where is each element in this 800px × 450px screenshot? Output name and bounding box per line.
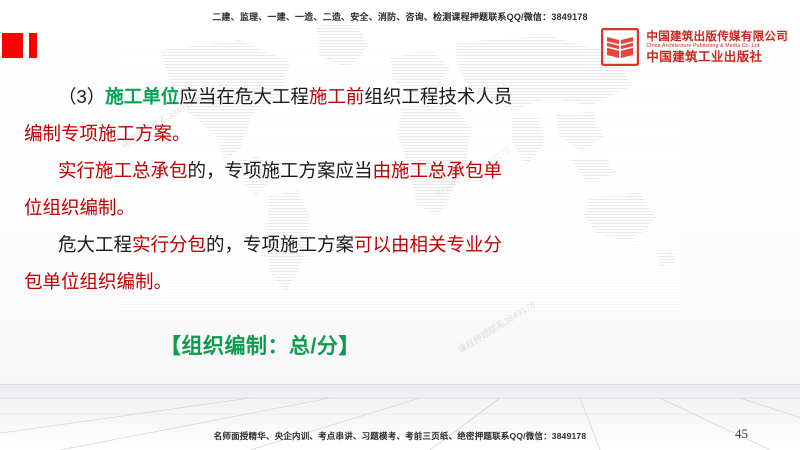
body-line-6: 包单位组织编制。 <box>24 263 584 300</box>
footer-contact-note: 名师面授精华、央企内训、考点串讲、习题模考、考前三页纸、绝密押题联系QQ/微信：… <box>0 430 800 442</box>
line5-red-2: 可以由相关专业分 <box>354 234 502 255</box>
line5-black-2: 的，专项施工方案 <box>206 234 354 255</box>
red-block-small-icon <box>29 33 37 58</box>
red-block-large-icon <box>2 33 23 58</box>
line6-red-text: 包单位组织编制。 <box>24 271 172 292</box>
presentation-slide: 二建、监理、一建、一造、二造、安全、消防、咨询、检测课程押题联系QQ/微信：38… <box>0 0 800 450</box>
line3-black: 的，专项施工方案应当 <box>188 160 373 181</box>
line3-red-2: 由施工总承包单 <box>373 160 503 181</box>
line1-black-2: 组织工程技术人员 <box>364 86 512 107</box>
header-contact-note: 二建、监理、一建、一造、二造、安全、消防、咨询、检测课程押题联系QQ/微信：38… <box>0 10 800 23</box>
publisher-logo: 中国建筑出版传媒有限公司 China Architecture Publishi… <box>601 28 788 66</box>
line2-red-text: 编制专项施工方案。 <box>24 123 191 144</box>
body-line-3: 实行施工总承包的，专项施工方案应当由施工总承包单 <box>24 152 584 189</box>
line3-red-1: 实行施工总承包 <box>58 160 188 181</box>
publisher-press-cn: 中国建筑工业出版社 <box>646 50 788 63</box>
line5-red-1: 实行分包 <box>132 234 206 255</box>
body-line-2: 编制专项施工方案。 <box>24 115 584 152</box>
summary-highlight: 【组织编制：总/分】 <box>160 330 360 360</box>
slide-body-text: （3）施工单位应当在危大工程施工前组织工程技术人员 编制专项施工方案。 实行施工… <box>24 78 584 300</box>
line4-red-text: 位组织编制。 <box>24 197 135 218</box>
line1-black-1: 应当在危大工程 <box>179 86 309 107</box>
body-line-1: （3）施工单位应当在危大工程施工前组织工程技术人员 <box>24 78 584 115</box>
line5-black-1: 危大工程 <box>58 234 132 255</box>
line1-green-term: 施工单位 <box>105 86 179 107</box>
body-line-5: 危大工程实行分包的，专项施工方案可以由相关专业分 <box>24 226 584 263</box>
body-line-4: 位组织编制。 <box>24 189 584 226</box>
page-number: 45 <box>735 426 748 442</box>
publisher-company-cn: 中国建筑出版传媒有限公司 <box>646 31 788 43</box>
publisher-book-icon <box>601 28 639 66</box>
line1-red-term: 施工前 <box>309 86 365 107</box>
line1-marker: （3） <box>58 86 105 107</box>
publisher-logo-text: 中国建筑出版传媒有限公司 China Architecture Publishi… <box>646 31 788 64</box>
